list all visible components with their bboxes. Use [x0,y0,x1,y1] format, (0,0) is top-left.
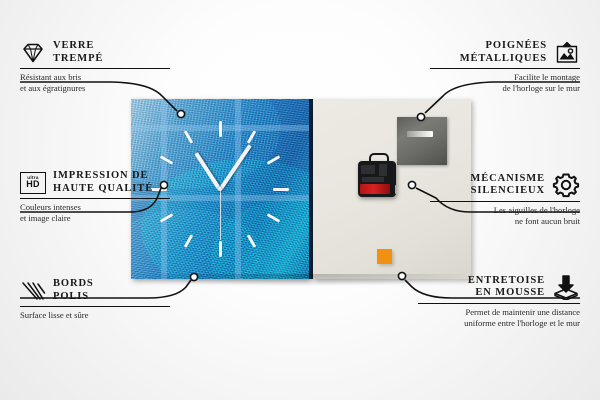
callout-header: ultra HD IMPRESSION DE HAUTE QUALITÉ [20,170,170,195]
quartz-movement [358,161,396,197]
callout-mecanisme-silencieux: MÉCANISME SILENCIEUX Les aiguilles de l'… [430,172,580,227]
ultra-hd-icon: ultra HD [20,172,46,194]
callout-poignees-metalliques: POIGNÉES MÉTALLIQUES Facilite le montage… [430,40,580,94]
metal-hanger-bracket [397,117,447,165]
callout-sub-line1: Permet de maintenir une distance [418,307,580,318]
callout-title-line1: VERRE [53,40,103,53]
movement-detail [379,164,387,176]
clock-tick [219,241,222,257]
callout-sub-line2: uniforme entre l'horloge et le mur [418,318,580,329]
movement-detail [361,165,375,174]
callout-sub-line1: Facilite le montage [430,72,580,83]
callout-title-line2: POLIS [53,291,94,304]
callout-title-line1: POIGNÉES [460,40,547,53]
callout-rule [430,68,580,69]
callout-sub-line2: de l'horloge sur le mur [430,83,580,94]
callout-title-line1: ENTRETOISE [468,275,545,288]
callout-header: ENTRETOISE EN MOUSSE [418,274,580,300]
callout-title-line2: EN MOUSSE [468,287,545,300]
callout-bords-polis: BORDS POLIS Surface lisse et sûre [20,278,170,321]
callout-title-line1: IMPRESSION DE [53,170,153,183]
product-photo [131,99,471,279]
movement-detail [362,177,384,182]
callout-title-line1: MÉCANISME [470,173,545,186]
callout-sub-line2: et aux égratignures [20,83,170,94]
callout-title-line2: HAUTE QUALITÉ [53,183,153,196]
callout-title-line2: SILENCIEUX [470,185,545,198]
callout-sub-line1: Couleurs intenses [20,202,170,213]
callout-verre-trempe: VERRE TREMPÉ Résistant aux bris et aux é… [20,40,170,94]
clock-second-hand [220,188,221,240]
callout-rule [418,303,580,304]
arrow-down-foam-icon [552,274,580,300]
callout-title-line2: MÉTALLIQUES [460,53,547,66]
callout-rule [20,68,170,69]
foam-spacer [377,249,392,264]
ultra-hd-icon-large-text: HD [26,180,40,189]
bracket-slot [407,131,433,137]
callout-sub-line2: et image claire [20,213,170,224]
callout-rule [20,198,170,199]
callout-rule [430,201,580,202]
callout-title-line1: BORDS [53,278,94,291]
callout-rule [20,306,170,307]
callout-header: POIGNÉES MÉTALLIQUES [430,40,580,65]
diamond-icon [20,42,46,64]
gear-icon [552,172,580,198]
callout-impression-haute-qualite: ultra HD IMPRESSION DE HAUTE QUALITÉ Cou… [20,170,170,224]
callout-entretoise-en-mousse: ENTRETOISE EN MOUSSE Permet de maintenir… [418,274,580,329]
callout-header: MÉCANISME SILENCIEUX [430,172,580,198]
callout-sub-line1: Les aiguilles de l'horloge [430,205,580,216]
clock-tick [219,121,222,137]
callout-sub-line1: Résistant aux bris [20,72,170,83]
callout-sub-line1: Surface lisse et sûre [20,310,170,321]
infographic-canvas: VERRE TREMPÉ Résistant aux bris et aux é… [0,0,600,400]
callout-sub-line2: ne font aucun bruit [430,216,580,227]
clock-tick [273,188,289,191]
polished-edge-icon [20,280,46,302]
clock-center-pin [218,187,222,191]
picture-frame-hanger-icon [554,41,580,65]
callout-header: BORDS POLIS [20,278,170,303]
callout-title-line2: TREMPÉ [53,53,103,66]
callout-header: VERRE TREMPÉ [20,40,170,65]
battery-terminal [395,185,396,194]
aa-battery [360,184,390,194]
